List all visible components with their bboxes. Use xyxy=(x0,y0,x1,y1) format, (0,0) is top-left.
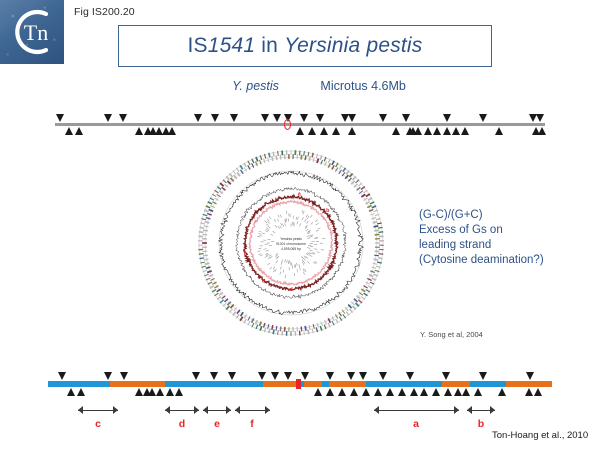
subtitle-rest: Microtus 4.6Mb xyxy=(279,79,406,93)
is-element-marker-forward xyxy=(56,114,64,122)
circos-inner-tick xyxy=(311,222,313,224)
is-element-marker-reverse xyxy=(461,127,469,135)
circos-inner-tick xyxy=(283,270,284,273)
circos-gene-tick xyxy=(217,187,221,190)
is-element-marker-reverse xyxy=(65,127,73,135)
circos-inner-tick xyxy=(278,215,279,218)
measure-arrow-a xyxy=(374,406,459,415)
circos-gene-tick xyxy=(206,206,210,208)
subtitle: Y. pestis Microtus 4.6Mb xyxy=(0,79,600,93)
is-element-marker-reverse xyxy=(348,127,356,135)
circos-gene-tick xyxy=(210,286,214,288)
is-element-marker-forward xyxy=(479,372,487,380)
circos-inner-tick xyxy=(303,211,304,214)
subtitle-inner: Y. pestis Microtus 4.6Mb xyxy=(194,79,406,93)
circos-inner-tick xyxy=(266,254,269,255)
circos-gene-tick xyxy=(353,177,356,180)
circos-inner-tick xyxy=(266,229,269,231)
circos-gene-tick xyxy=(240,317,243,321)
circos-inner-tick xyxy=(273,269,275,272)
circos-gene-tick xyxy=(343,168,346,172)
is-element-marker-reverse xyxy=(444,388,452,396)
circos-gene-tick xyxy=(205,222,210,223)
circos-inner-tick xyxy=(258,248,261,249)
circos-inner-tick xyxy=(285,275,286,278)
genome-segment xyxy=(442,381,470,387)
circos-gene-tick xyxy=(351,302,354,305)
circos-gene-tick xyxy=(280,326,281,331)
circos-gene-tick xyxy=(372,206,376,208)
circos-inner-tick xyxy=(260,255,263,256)
circos-inner-tick xyxy=(265,231,268,232)
circos-inner-tick xyxy=(296,263,297,266)
circos-gene-tick xyxy=(353,306,356,309)
genome-segment xyxy=(371,381,442,387)
circos-inner-tick xyxy=(267,219,269,221)
circos-gene-tick xyxy=(208,202,212,204)
circos-gene-tick xyxy=(378,254,383,255)
is-element-marker-forward xyxy=(479,114,487,122)
circos-gene-tick xyxy=(230,305,233,309)
circos-gene-tick xyxy=(204,259,209,260)
circos-inner-tick xyxy=(310,235,313,236)
circos-gene-tick xyxy=(301,326,302,331)
title-box: IS1541 in Yersinia pestis xyxy=(118,25,492,67)
circos-gene-tick xyxy=(372,218,377,219)
is-element-marker-forward xyxy=(192,372,200,380)
figure-label: Fig IS200.20 xyxy=(74,6,135,18)
is-element-marker-reverse xyxy=(410,388,418,396)
circos-gene-tick xyxy=(236,168,239,172)
circos-inner-tick xyxy=(259,231,262,232)
is-element-marker-reverse xyxy=(525,388,533,396)
circos-gene-tick xyxy=(233,312,236,316)
circos-gene-tick xyxy=(332,161,334,165)
circos-gene-tick xyxy=(220,300,224,303)
measure-arrow-f xyxy=(235,406,270,415)
circos-gene-tick xyxy=(351,181,354,184)
is-element-marker-reverse xyxy=(454,388,462,396)
circos-inner-tick xyxy=(267,221,269,223)
is-element-marker-forward xyxy=(211,114,219,122)
genome-segment xyxy=(470,381,506,387)
is-element-marker-reverse xyxy=(67,388,75,396)
circos-inner-tick xyxy=(267,263,269,265)
circos-gene-tick xyxy=(365,202,369,204)
is-element-marker-forward xyxy=(258,372,266,380)
is-element-marker-forward xyxy=(301,372,309,380)
circos-inner-tick xyxy=(295,265,296,268)
origin-marker-oval xyxy=(284,119,291,130)
circos-gene-tick xyxy=(369,275,373,277)
circos-gene-tick xyxy=(328,163,330,167)
circos-gene-tick xyxy=(339,165,342,169)
circos-gene-tick xyxy=(305,155,306,160)
circos-gene-tick xyxy=(349,173,352,177)
circos-inner-tick xyxy=(273,267,275,270)
circos-gene-tick xyxy=(233,171,236,175)
is-element-marker-forward xyxy=(536,114,544,122)
circos-gene-tick xyxy=(252,318,254,322)
circos-gene-tick xyxy=(264,158,265,163)
circos-inner-tick xyxy=(297,269,298,272)
circos-gene-tick xyxy=(364,293,368,296)
is-element-marker-reverse xyxy=(538,127,546,135)
arrow-head-right-icon xyxy=(490,406,495,414)
circos-gene-tick xyxy=(346,171,349,175)
circos-gene-tick xyxy=(230,178,233,182)
is-element-marker-reverse xyxy=(374,388,382,396)
is-element-marker-reverse xyxy=(338,388,346,396)
is-element-marker-reverse xyxy=(75,127,83,135)
circos-inner-tick xyxy=(266,250,269,251)
circos-gene-tick xyxy=(349,309,352,313)
is-element-marker-forward xyxy=(210,372,218,380)
circos-gene-tick xyxy=(374,259,379,260)
circos-gene-tick xyxy=(361,296,365,299)
is-element-marker-forward xyxy=(347,372,355,380)
circos-inner-tick xyxy=(257,236,260,237)
measure-label-b: b xyxy=(471,418,491,430)
circos-inner-tick xyxy=(303,268,304,271)
circos-inner-tick xyxy=(307,261,309,263)
is-element-marker-forward xyxy=(104,114,112,122)
origin-marker-block xyxy=(296,379,301,389)
circos-gene-tick xyxy=(255,320,257,324)
circos-inner-tick xyxy=(321,250,324,251)
circos-gene-tick xyxy=(205,263,210,264)
circos-inner-tick xyxy=(263,249,266,250)
circos-center-line2: 91001 chromosome xyxy=(276,242,306,246)
is-element-marker-reverse xyxy=(474,388,482,396)
circos-gene-tick xyxy=(374,226,379,227)
circos-inner-tick xyxy=(302,259,304,262)
circos-gene-tick xyxy=(215,293,219,296)
circos-inner-tick xyxy=(297,221,298,224)
circos-gene-tick xyxy=(217,296,221,299)
is-element-marker-forward xyxy=(316,114,324,122)
is-element-marker-forward xyxy=(359,372,367,380)
circos-inner-tick xyxy=(315,237,318,238)
arrow-head-right-icon xyxy=(113,406,118,414)
circos-inner-tick xyxy=(262,233,265,234)
circos-gene-tick xyxy=(199,258,204,259)
is-element-marker-forward xyxy=(271,372,279,380)
note-line-4: (Cytosine deamination?) xyxy=(419,253,544,268)
svg-text:Tn: Tn xyxy=(24,20,48,45)
genome-segment xyxy=(329,381,366,387)
circos-gene-tick xyxy=(223,303,227,306)
is-element-marker-reverse xyxy=(424,127,432,135)
circos-gene-tick xyxy=(348,305,351,309)
is-element-marker-forward xyxy=(526,372,534,380)
is-element-marker-reverse xyxy=(398,388,406,396)
is-element-marker-reverse xyxy=(135,127,143,135)
measure-arrow-d xyxy=(165,406,199,415)
circular-genome-plot: abcdef Yersinia pestis 91001 chromosome … xyxy=(196,148,386,338)
is-element-marker-reverse xyxy=(175,388,183,396)
circos-gene-tick xyxy=(308,329,309,334)
is-element-marker-reverse xyxy=(433,127,441,135)
circos-inner-tick xyxy=(275,225,277,227)
is-element-marker-reverse xyxy=(443,127,451,135)
genome-segment xyxy=(165,381,263,387)
circos-inner-tick xyxy=(314,238,317,239)
circos-inner-tick xyxy=(307,253,310,255)
circos-inner-tick xyxy=(301,256,303,259)
gc-skew-note: (G-C)/(G+C) Excess of Gs on leading stra… xyxy=(419,208,544,268)
is-element-marker-forward xyxy=(379,114,387,122)
title-mid: in xyxy=(255,34,284,57)
circos-gene-tick xyxy=(280,155,281,160)
circos-gene-tick xyxy=(356,303,360,306)
circos-inner-tick xyxy=(310,215,312,218)
arrow-shaft xyxy=(78,410,118,411)
circos-gene-tick xyxy=(312,153,313,158)
arrow-head-right-icon xyxy=(226,406,231,414)
measure-label-f: f xyxy=(242,418,262,430)
is-element-marker-reverse xyxy=(362,388,370,396)
circos-inner-tick xyxy=(307,235,310,236)
circos-gene-tick xyxy=(328,318,330,322)
circos-gene-tick xyxy=(370,213,375,215)
circos-gene-tick xyxy=(378,232,383,233)
arrow-shaft xyxy=(374,410,459,411)
ctn-logo-icon: Tn xyxy=(0,0,64,64)
circos-inner-tick xyxy=(270,234,273,235)
is-element-marker-reverse xyxy=(320,127,328,135)
circos-gene-tick xyxy=(209,275,213,277)
is-element-marker-reverse xyxy=(326,388,334,396)
circos-inner-tick xyxy=(307,248,310,249)
is-element-marker-reverse xyxy=(332,127,340,135)
is-element-marker-forward xyxy=(443,114,451,122)
circos-gene-tick xyxy=(369,209,373,211)
circos-inner-tick xyxy=(280,226,282,229)
circos-inner-tick xyxy=(316,230,319,231)
circos-inner-tick xyxy=(306,221,308,224)
circos-inner-tick xyxy=(265,256,268,258)
is-element-marker-forward xyxy=(230,114,238,122)
arrow-head-right-icon xyxy=(265,406,270,414)
circos-gene-tick xyxy=(374,230,379,231)
is-element-marker-forward xyxy=(300,114,308,122)
circos-inner-tick xyxy=(306,229,308,231)
circos-ring-label-b: b xyxy=(326,208,330,214)
is-element-marker-forward xyxy=(120,372,128,380)
note-line-3: leading strand xyxy=(419,238,544,253)
is-element-marker-reverse xyxy=(462,388,470,396)
slide-canvas: Tn Fig IS200.20 IS1541 in Yersinia pesti… xyxy=(0,0,600,450)
circos-center-line3: 4,595,065 bp xyxy=(281,247,301,251)
measure-label-a: a xyxy=(406,418,426,430)
is-element-marker-forward xyxy=(104,372,112,380)
is-element-marker-reverse xyxy=(452,127,460,135)
circos-gene-tick xyxy=(223,180,227,183)
circos-inner-tick xyxy=(296,217,297,220)
circos-gene-tick xyxy=(358,300,362,303)
circos-gene-tick xyxy=(207,271,212,273)
is-element-marker-reverse xyxy=(414,127,422,135)
circos-gene-tick xyxy=(255,161,257,165)
is-element-marker-reverse xyxy=(386,388,394,396)
circos-inner-tick xyxy=(269,255,272,257)
circos-gene-tick xyxy=(273,152,274,157)
circos-gene-tick xyxy=(199,227,204,228)
is-element-marker-reverse xyxy=(432,388,440,396)
is-element-marker-reverse xyxy=(314,388,322,396)
is-element-marker-reverse xyxy=(420,388,428,396)
genome-segment xyxy=(110,381,165,387)
circos-gene-tick xyxy=(374,255,379,256)
circos-inner-tick xyxy=(310,255,313,257)
top-genome-line xyxy=(55,123,545,126)
is-element-marker-reverse xyxy=(350,388,358,396)
circos-inner-tick xyxy=(302,262,304,265)
circos-gene-tick xyxy=(227,181,230,184)
circos-inner-tick xyxy=(299,223,300,226)
measure-arrow-e xyxy=(203,406,231,415)
measure-arrow-b xyxy=(467,406,495,415)
circos-inner-tick xyxy=(307,216,309,219)
circos-inner-tick xyxy=(299,264,300,267)
circos-gene-tick xyxy=(348,178,351,182)
circos-gene-tick xyxy=(378,258,383,259)
genome-segment xyxy=(263,381,297,387)
subtitle-species: Y. pestis xyxy=(232,79,279,93)
circos-gene-tick xyxy=(209,209,213,211)
circos-gene-tick xyxy=(372,267,377,268)
is-element-marker-forward xyxy=(261,114,269,122)
circos-gene-tick xyxy=(259,322,261,326)
is-element-marker-reverse xyxy=(498,388,506,396)
measure-arrow-c xyxy=(78,406,118,415)
is-element-marker-forward xyxy=(326,372,334,380)
circos-gene-tick xyxy=(276,155,277,160)
circos-gene-tick xyxy=(269,153,270,158)
circos-gene-tick xyxy=(370,202,374,204)
circos-inner-tick xyxy=(276,260,278,263)
circos-inner-tick xyxy=(268,226,271,228)
circos-gene-tick xyxy=(199,232,204,233)
circos-gene-tick xyxy=(269,329,270,334)
circos-gene-tick xyxy=(305,326,306,331)
is-element-marker-reverse xyxy=(156,388,164,396)
circos-gene-tick xyxy=(361,187,365,190)
circos-gene-tick xyxy=(276,326,277,331)
circos-gene-tick xyxy=(268,324,269,329)
circos-svg: abcdef Yersinia pestis 91001 chromosome … xyxy=(196,148,386,338)
is-element-marker-reverse xyxy=(296,127,304,135)
is-element-marker-reverse xyxy=(534,388,542,396)
is-element-marker-forward xyxy=(406,372,414,380)
circos-gene-tick xyxy=(367,206,371,208)
is-element-marker-forward xyxy=(58,372,66,380)
circos-inner-tick xyxy=(298,217,299,220)
circos-gene-tick xyxy=(240,165,243,169)
is-element-marker-forward xyxy=(402,114,410,122)
circos-inner-tick xyxy=(257,251,260,252)
circos-gene-tick xyxy=(264,323,265,328)
circos-gene-tick xyxy=(366,194,370,197)
is-element-marker-forward xyxy=(194,114,202,122)
circos-gene-tick xyxy=(370,271,375,273)
circos-gene-tick xyxy=(206,218,211,219)
is-element-marker-reverse xyxy=(77,388,85,396)
circos-inner-tick xyxy=(280,272,281,275)
circos-gene-tick xyxy=(356,180,360,183)
circos-inner-tick xyxy=(318,228,321,229)
title-prefix: IS xyxy=(187,34,207,57)
circos-gene-tick xyxy=(226,306,229,309)
circos-gene-tick xyxy=(252,159,254,163)
circos-gene-tick xyxy=(309,325,310,330)
circos-gene-tick xyxy=(227,302,230,305)
is-element-marker-forward xyxy=(119,114,127,122)
citation-song: Y. Song et al, 2004 xyxy=(420,330,483,339)
circos-inner-tick xyxy=(285,259,286,262)
circos-gene-tick xyxy=(343,314,346,318)
genome-segment xyxy=(48,381,110,387)
circos-inner-tick xyxy=(274,219,276,222)
is-element-marker-forward xyxy=(228,372,236,380)
circos-gene-tick xyxy=(236,314,239,318)
circos-inner-tick xyxy=(317,252,320,253)
is-element-marker-forward xyxy=(379,372,387,380)
circos-inner-tick xyxy=(258,233,261,234)
measure-label-d: d xyxy=(172,418,192,430)
circos-gene-tick xyxy=(244,163,246,167)
circos-inner-tick xyxy=(309,252,312,253)
circos-gene-tick xyxy=(268,157,269,162)
ctn-logo: Tn xyxy=(0,0,64,64)
circos-gene-tick xyxy=(304,151,305,156)
circos-inner-tick xyxy=(264,221,266,223)
circos-gene-tick xyxy=(272,325,273,330)
circos-ring-label-e: e xyxy=(262,278,265,284)
bottom-genome-map xyxy=(48,381,552,387)
circos-gene-tick xyxy=(317,323,318,328)
is-element-marker-reverse xyxy=(392,127,400,135)
is-element-marker-reverse xyxy=(148,388,156,396)
circos-inner-tick xyxy=(307,238,310,239)
circos-gene-tick xyxy=(309,156,310,161)
circos-gene-tick xyxy=(378,227,383,228)
circos-inner-tick xyxy=(258,253,261,254)
title-italic-number: 1541 xyxy=(208,34,256,57)
circos-inner-tick xyxy=(314,249,317,250)
is-element-marker-reverse xyxy=(308,127,316,135)
circos-gene-tick xyxy=(346,312,349,316)
circos-gene-tick xyxy=(317,158,318,163)
circos-gene-tick xyxy=(229,309,232,313)
circos-gene-tick xyxy=(301,155,302,160)
circos-inner-tick xyxy=(285,223,286,226)
circos-inner-tick xyxy=(272,231,275,233)
is-element-marker-reverse xyxy=(495,127,503,135)
circos-inner-tick xyxy=(285,220,286,223)
circos-gene-tick xyxy=(373,222,378,223)
circos-inner-tick xyxy=(302,210,303,213)
circos-inner-tick xyxy=(303,272,304,275)
circos-inner-tick xyxy=(303,261,305,264)
circos-gene-tick xyxy=(215,190,219,193)
circos-gene-tick xyxy=(278,151,279,156)
circos-gene-tick xyxy=(272,156,273,161)
circos-inner-tick xyxy=(302,217,303,220)
note-line-1: (G-C)/(G+C) xyxy=(419,208,544,223)
circos-ring-label-c: c xyxy=(326,270,329,276)
